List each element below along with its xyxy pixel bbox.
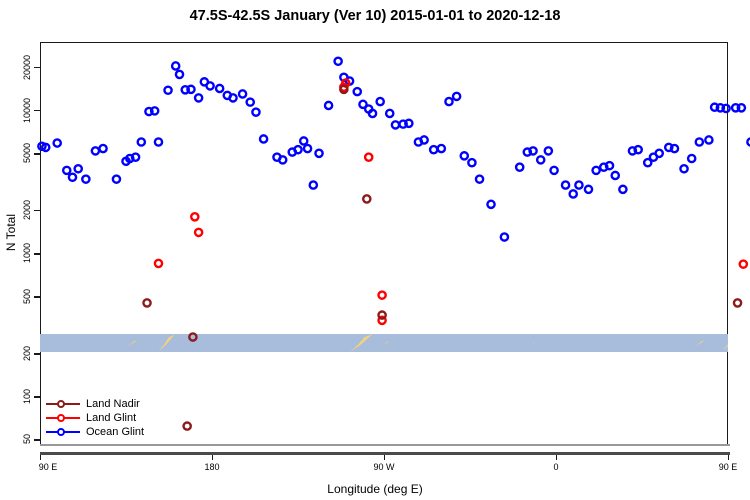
x-tick-label: 0 [526, 462, 586, 472]
series-land-nadir [143, 86, 750, 430]
y-tick-label: 5000 [22, 135, 32, 171]
y-tick-label: 500 [22, 278, 32, 314]
data-point [300, 137, 307, 144]
data-point [132, 154, 139, 161]
data-point [216, 85, 223, 92]
y-tick-label: 2000 [22, 192, 32, 228]
x-axis-title: Longitude (deg E) [0, 482, 750, 496]
data-point [734, 299, 741, 306]
data-point [392, 121, 399, 128]
data-point [516, 164, 523, 171]
data-point [195, 94, 202, 101]
chart-screenshot: 47.5S-42.5S January (Ver 10) 2015-01-01 … [0, 0, 750, 500]
data-point [722, 105, 729, 112]
data-point [189, 333, 196, 340]
data-point [386, 110, 393, 117]
legend-label: Land Nadir [86, 398, 140, 410]
scatter-points-layer [40, 42, 728, 446]
data-point [176, 71, 183, 78]
x-tick-label: 90 E [18, 462, 78, 472]
data-point [184, 422, 191, 429]
legend-label: Ocean Glint [86, 426, 144, 438]
data-point [187, 86, 194, 93]
data-point [75, 165, 82, 172]
x-tick-mark [384, 455, 385, 460]
data-point [468, 159, 475, 166]
y-tick-label: 20000 [22, 49, 32, 85]
data-point [155, 138, 162, 145]
data-point [99, 145, 106, 152]
y-tick-label: 100 [22, 378, 32, 414]
data-point [545, 147, 552, 154]
data-point [252, 109, 259, 116]
data-point [501, 233, 508, 240]
legend-item-land-nadir[interactable]: Land Nadir [46, 397, 144, 411]
y-tick-label: 200 [22, 335, 32, 371]
data-point [229, 94, 236, 101]
series-ocean-glint [38, 58, 750, 241]
y-tick-label: 10000 [22, 92, 32, 128]
x-tick-mark [728, 455, 729, 460]
data-point [445, 98, 452, 105]
data-point [593, 167, 600, 174]
x-tick-label: 90 E [698, 462, 750, 472]
data-point [656, 150, 663, 157]
data-point [688, 155, 695, 162]
legend-marker-icon [46, 425, 80, 439]
data-point [206, 82, 213, 89]
data-point [619, 186, 626, 193]
data-point [461, 152, 468, 159]
data-point [606, 162, 613, 169]
data-point [155, 260, 162, 267]
y-tick-label: 50 [22, 421, 32, 457]
data-point [304, 145, 311, 152]
data-point [195, 229, 202, 236]
data-point [487, 201, 494, 208]
data-point [138, 138, 145, 145]
data-point [340, 86, 347, 93]
data-point [191, 213, 198, 220]
data-point [143, 299, 150, 306]
data-point [537, 156, 544, 163]
legend-label: Land Glint [86, 412, 136, 424]
series-land-glint [155, 79, 750, 324]
data-point [562, 181, 569, 188]
legend-item-land-glint[interactable]: Land Glint [46, 411, 144, 425]
data-point [705, 136, 712, 143]
data-point [671, 145, 678, 152]
x-axis-line-secondary [40, 444, 730, 446]
data-point [82, 176, 89, 183]
data-point [172, 62, 179, 69]
legend-marker-icon [46, 411, 80, 425]
data-point [438, 145, 445, 152]
data-point [369, 110, 376, 117]
data-point [453, 93, 460, 100]
data-point [430, 146, 437, 153]
legend-item-ocean-glint[interactable]: Ocean Glint [46, 425, 144, 439]
data-point [239, 90, 246, 97]
data-point [550, 167, 557, 174]
plot-area [40, 42, 728, 446]
data-point [63, 167, 70, 174]
data-point [421, 136, 428, 143]
data-point [294, 146, 301, 153]
data-point [635, 146, 642, 153]
data-point [378, 311, 385, 318]
y-tick-label: 1000 [22, 235, 32, 271]
data-point [377, 98, 384, 105]
data-point [529, 147, 536, 154]
data-point [247, 99, 254, 106]
data-point [164, 87, 171, 94]
data-point [325, 102, 332, 109]
data-point [310, 181, 317, 188]
data-point [151, 107, 158, 114]
y-axis-title: N Total [4, 214, 18, 251]
data-point [405, 120, 412, 127]
data-point [696, 138, 703, 145]
legend: Land NadirLand GlintOcean Glint [46, 397, 144, 439]
data-point [585, 186, 592, 193]
data-point [570, 190, 577, 197]
x-tick-mark [40, 455, 41, 460]
data-point [279, 156, 286, 163]
data-point [113, 176, 120, 183]
data-point [54, 139, 61, 146]
data-point [69, 174, 76, 181]
data-point [365, 154, 372, 161]
x-tick-label: 180 [182, 462, 242, 472]
data-point [680, 165, 687, 172]
x-tick-mark [556, 455, 557, 460]
x-tick-label: 90 W [354, 462, 414, 472]
page-title: 47.5S-42.5S January (Ver 10) 2015-01-01 … [0, 8, 750, 24]
data-point [260, 135, 267, 142]
data-point [315, 150, 322, 157]
data-point [378, 292, 385, 299]
data-point [92, 147, 99, 154]
data-point [738, 104, 745, 111]
data-point [335, 58, 342, 65]
legend-marker-icon [46, 397, 80, 411]
data-point [612, 172, 619, 179]
data-point [575, 181, 582, 188]
data-point [740, 261, 747, 268]
data-point [363, 195, 370, 202]
data-point [354, 88, 361, 95]
x-tick-mark [212, 455, 213, 460]
data-point [476, 176, 483, 183]
